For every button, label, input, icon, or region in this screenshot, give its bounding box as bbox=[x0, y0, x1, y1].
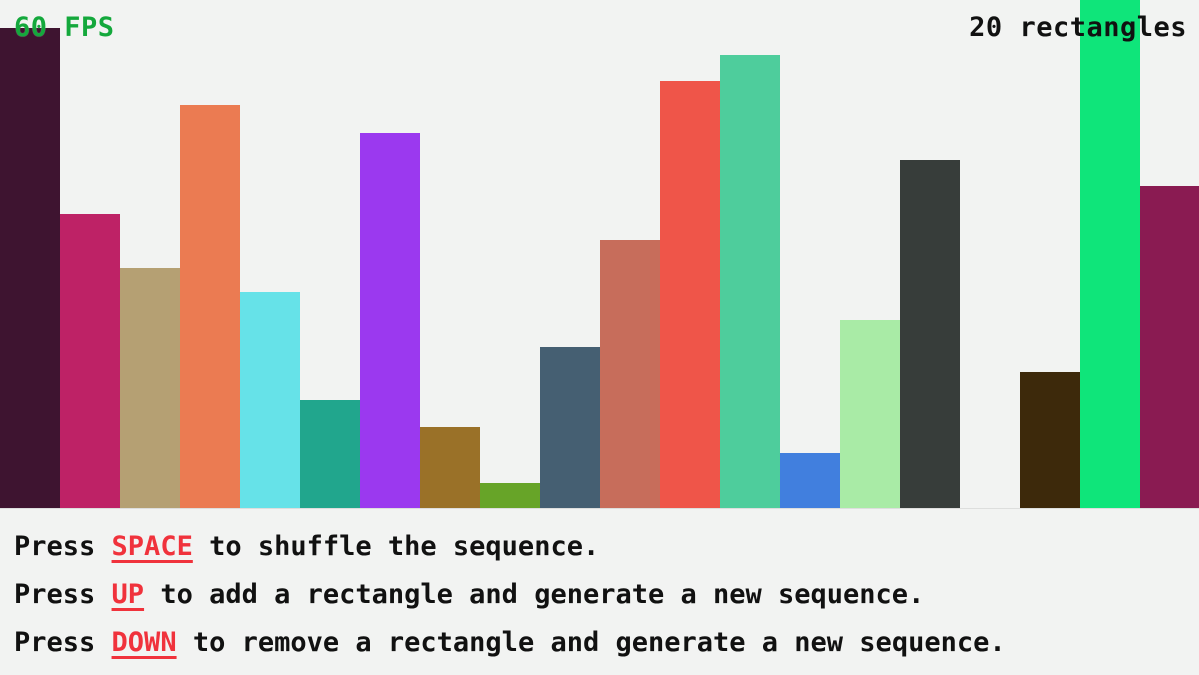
app-root: 60 FPS 20 rectangles Press SPACE to shuf… bbox=[0, 0, 1199, 675]
fps-counter: 60 FPS bbox=[14, 12, 115, 43]
bar-rectangle bbox=[420, 427, 480, 508]
instruction-line-add: Press UP to add a rectangle and generate… bbox=[14, 571, 1199, 619]
bar-rectangle bbox=[60, 214, 120, 508]
bar-container bbox=[0, 0, 1199, 508]
bar-rectangle bbox=[900, 160, 960, 508]
instruction-suffix: to add a rectangle and generate a new se… bbox=[144, 579, 924, 610]
bar-rectangle bbox=[180, 105, 240, 508]
instructions-panel: Press SPACE to shuffle the sequence. Pre… bbox=[0, 509, 1199, 675]
rectangle-count-label: 20 rectangles bbox=[969, 12, 1187, 43]
key-down[interactable]: DOWN bbox=[112, 627, 177, 658]
bar-rectangle bbox=[600, 240, 660, 508]
bar-rectangle bbox=[1140, 186, 1199, 508]
instruction-line-shuffle: Press SPACE to shuffle the sequence. bbox=[14, 523, 1199, 571]
rectangle-canvas[interactable]: 60 FPS 20 rectangles bbox=[0, 0, 1199, 509]
bar-rectangle bbox=[240, 292, 300, 508]
instruction-prefix: Press bbox=[14, 627, 112, 658]
instruction-prefix: Press bbox=[14, 579, 112, 610]
bar-rectangle bbox=[840, 320, 900, 508]
key-space[interactable]: SPACE bbox=[112, 531, 193, 562]
instruction-prefix: Press bbox=[14, 531, 112, 562]
bar-rectangle bbox=[780, 453, 840, 508]
bar-rectangle bbox=[1020, 372, 1080, 508]
instruction-suffix: to shuffle the sequence. bbox=[193, 531, 599, 562]
bar-rectangle bbox=[720, 55, 780, 508]
bar-rectangle bbox=[120, 268, 180, 508]
instruction-line-remove: Press DOWN to remove a rectangle and gen… bbox=[14, 619, 1199, 667]
bar-rectangle bbox=[360, 133, 420, 508]
bar-rectangle bbox=[1080, 0, 1140, 508]
bar-rectangle bbox=[0, 28, 60, 508]
bar-rectangle bbox=[660, 81, 720, 508]
key-up[interactable]: UP bbox=[112, 579, 145, 610]
instruction-suffix: to remove a rectangle and generate a new… bbox=[177, 627, 1006, 658]
bar-rectangle bbox=[300, 400, 360, 508]
bar-rectangle bbox=[480, 483, 540, 508]
bar-rectangle bbox=[540, 347, 600, 508]
